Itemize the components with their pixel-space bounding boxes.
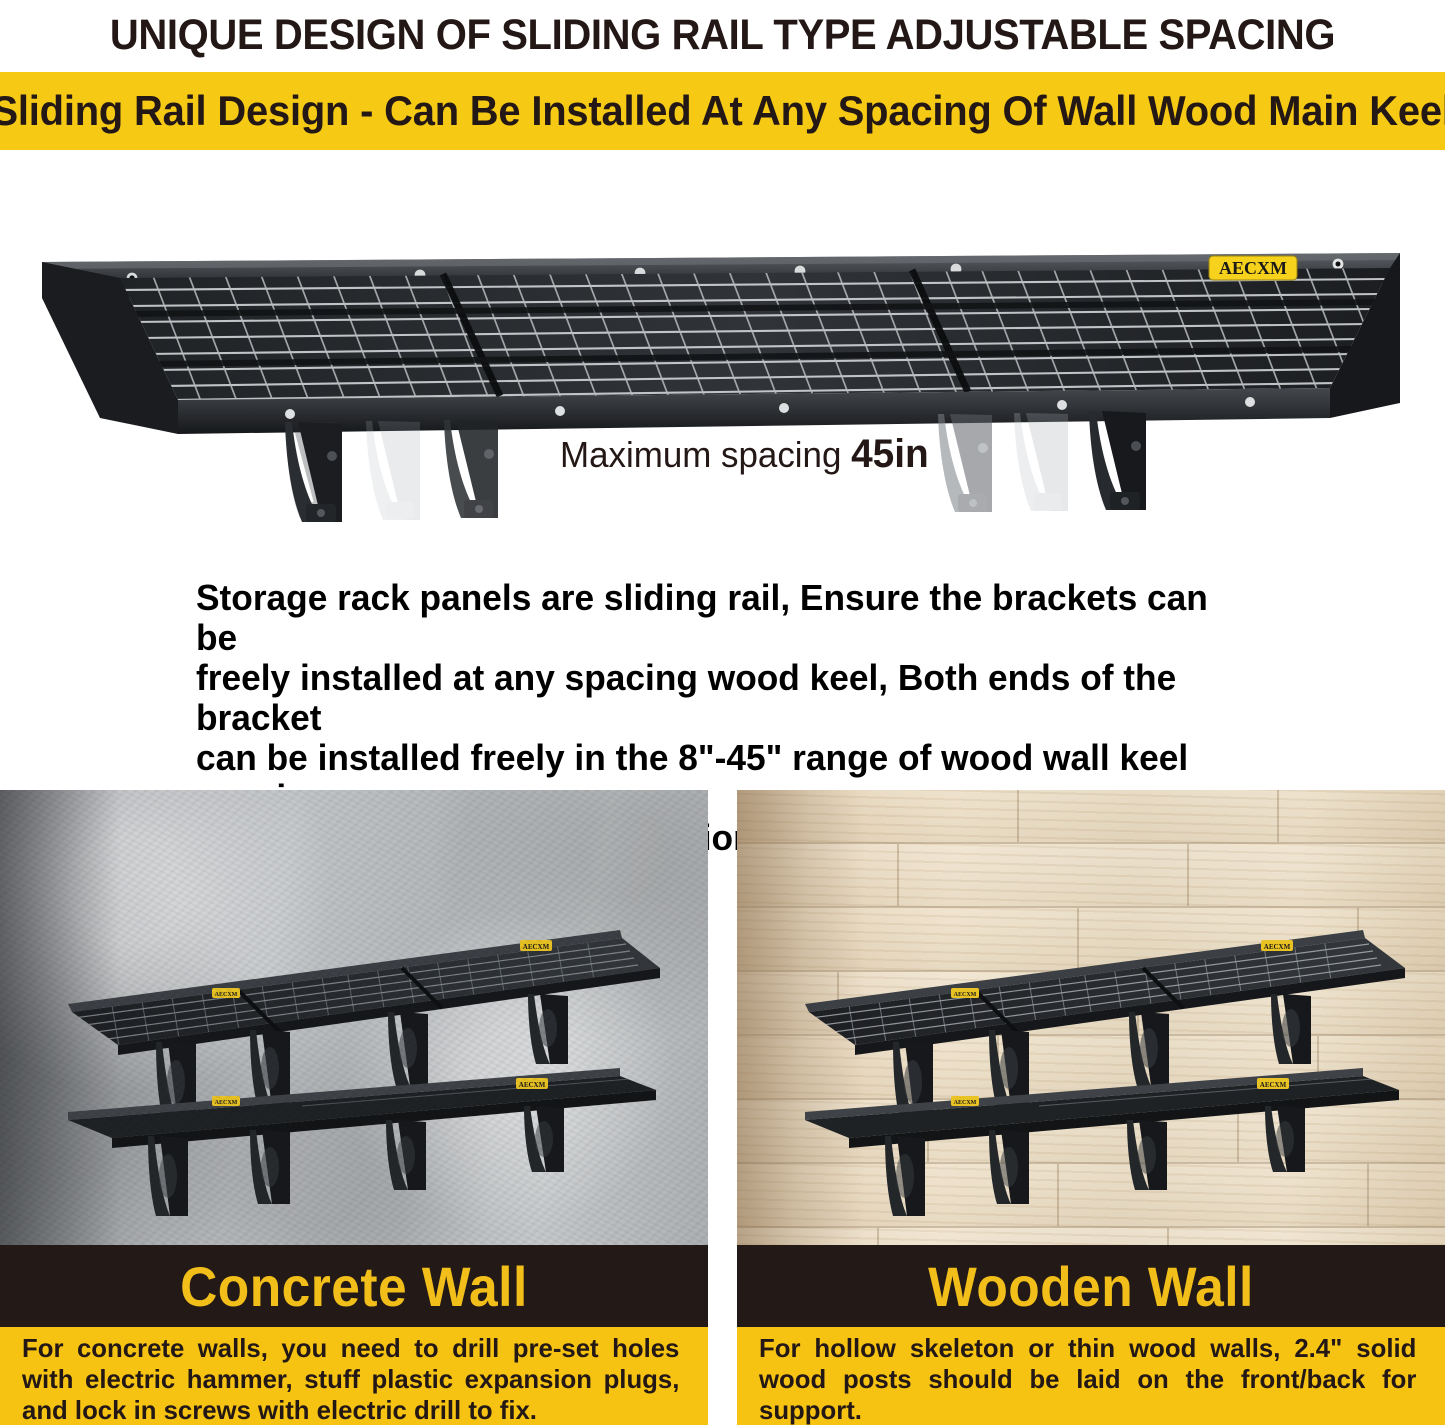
bracket <box>1265 1106 1305 1172</box>
bracket <box>1129 1012 1169 1086</box>
brand-badge-hero: AECXM <box>1209 256 1297 280</box>
description-line-2: freely installed at any spacing wood kee… <box>196 658 1237 738</box>
brand-badge-text: AECXM <box>215 1100 238 1106</box>
bracket-ghost-right-b <box>1014 413 1068 511</box>
max-spacing-value: 45in <box>851 432 929 476</box>
wooden-shelves: AECXM AECXM <box>737 790 1445 1245</box>
bracket <box>528 994 568 1064</box>
brand-badge-text: AECXM <box>954 992 977 998</box>
product-hero-illustration: AECXM <box>0 150 1445 560</box>
subtitle-banner: Sliding Rail Design - Can Be Installed A… <box>0 72 1445 150</box>
bracket <box>156 1042 196 1124</box>
wall-type-panels: AECXM AECXM <box>0 790 1445 1425</box>
bracket <box>1271 994 1311 1064</box>
brand-badge-text: AECXM <box>1219 258 1287 278</box>
wooden-wall-caption: For hollow skeleton or thin wood walls, … <box>759 1333 1416 1425</box>
wooden-shelf-lower: AECXM AECXM <box>805 1068 1399 1216</box>
panel-concrete-wall: AECXM AECXM <box>0 790 708 1425</box>
bracket-right-of-group-left <box>444 420 498 518</box>
bracket <box>885 1136 925 1216</box>
concrete-shelf-lower: AECXM AECXM <box>68 1068 656 1216</box>
bracket <box>989 1130 1029 1204</box>
brand-badge-text: AECXM <box>519 1081 546 1089</box>
rack-diagram: AECXM <box>0 150 1445 560</box>
brand-badge-text: AECXM <box>954 1100 977 1106</box>
description-line-1: Storage rack panels are sliding rail, En… <box>196 578 1237 658</box>
rack-mesh-deck <box>120 256 1393 412</box>
brand-badge-text: AECXM <box>523 943 550 951</box>
bracket <box>250 1030 290 1108</box>
brand-badge-text: AECXM <box>1264 943 1291 951</box>
bracket <box>148 1136 188 1216</box>
max-spacing-caption: Maximum spacing 45in <box>560 432 948 480</box>
wooden-wall-label-bar: Wooden Wall <box>737 1245 1445 1327</box>
bracket <box>524 1106 564 1172</box>
brand-badge-text: AECXM <box>215 992 238 998</box>
concrete-wall-label-bar: Concrete Wall <box>0 1245 708 1327</box>
bracket-ghost-left-b <box>366 421 420 520</box>
concrete-wall-label: Concrete Wall <box>180 1254 528 1319</box>
concrete-shadow-edge <box>0 790 120 1245</box>
concrete-shelves: AECXM AECXM <box>0 790 708 1245</box>
panel-wooden-wall: AECXM AECXM <box>737 790 1445 1425</box>
bracket-solid-right <box>1089 411 1146 510</box>
bracket <box>386 1120 426 1190</box>
wooden-wall-caption-box: For hollow skeleton or thin wood walls, … <box>737 1327 1445 1425</box>
concrete-wall-caption: For concrete walls, you need to drill pr… <box>22 1333 679 1425</box>
wooden-wall-photo: AECXM AECXM <box>737 790 1445 1245</box>
wooden-wall-label: Wooden Wall <box>928 1254 1254 1319</box>
concrete-wall-caption-box: For concrete walls, you need to drill pr… <box>0 1327 708 1425</box>
bracket-group-left <box>285 420 498 522</box>
concrete-shelf-upper: AECXM AECXM <box>68 898 660 1124</box>
bracket-solid-left <box>285 422 342 522</box>
bracket <box>388 1012 428 1086</box>
bracket <box>1127 1120 1167 1190</box>
subtitle-text: Sliding Rail Design - Can Be Installed A… <box>0 87 1445 135</box>
bracket <box>250 1130 290 1204</box>
bracket-group-right <box>938 411 1146 512</box>
page-title: UNIQUE DESIGN OF SLIDING RAIL TYPE ADJUS… <box>51 0 1395 70</box>
brand-badge-text: AECXM <box>1260 1081 1287 1089</box>
concrete-wall-photo: AECXM AECXM <box>0 790 708 1245</box>
max-spacing-label: Maximum spacing <box>560 434 841 475</box>
